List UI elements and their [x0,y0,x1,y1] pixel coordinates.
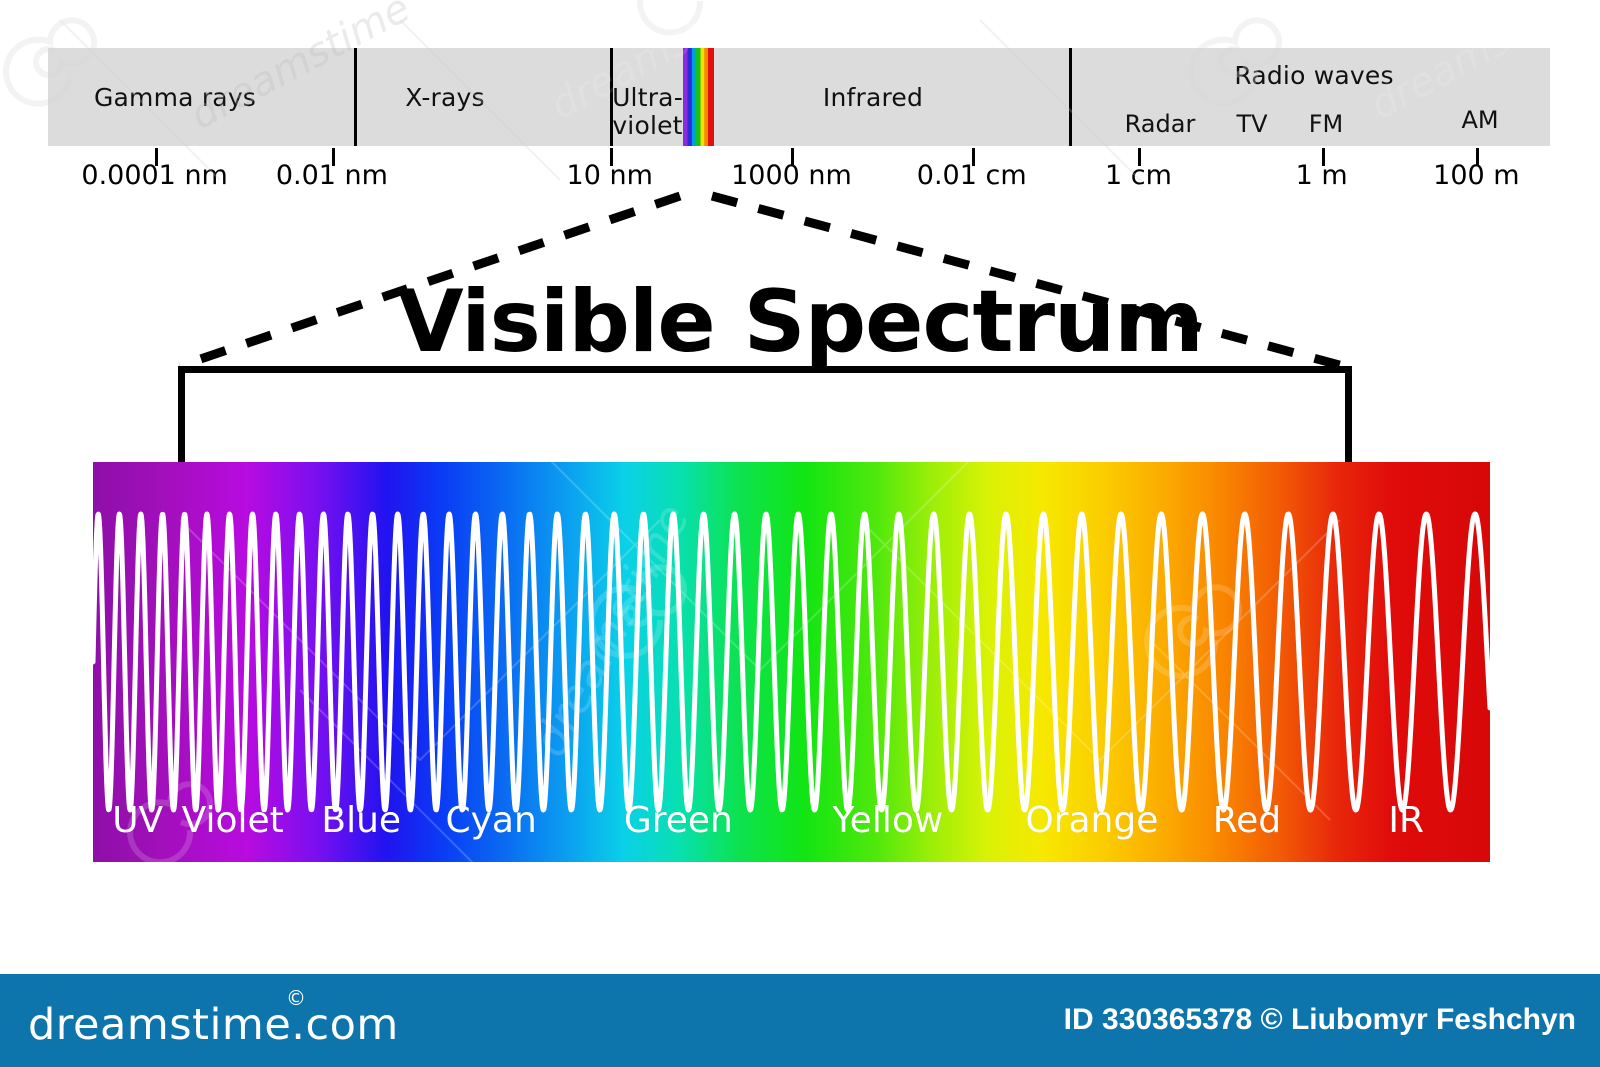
visible-band-label-violet: Violet [182,800,284,841]
visible-band-label-cyan: Cyan [445,800,536,841]
registered-icon: © [286,986,307,1010]
illustration-canvas: Gamma rays X-rays Ultra- violet Infrared… [0,0,1600,1067]
em-divider-3 [1069,48,1072,146]
bracket-left [178,366,185,466]
visible-band-label-blue: Blue [321,800,401,841]
em-region-x-rays: X-rays [360,84,530,112]
em-subregion-am: AM [1444,106,1516,134]
em-subregion-radar: Radar [1100,110,1220,138]
visible-band-label-green: Green [624,800,733,841]
image-credit: ID 330365378 © Liubomyr Feshchyn [1064,1003,1576,1037]
visible-band-label-ir: IR [1388,800,1424,841]
visible-band-label-yellow: Yellow [832,800,943,841]
visible-band-label-red: Red [1213,800,1281,841]
wave-path [93,514,1490,810]
em-region-infrared: Infrared [788,84,958,112]
dreamstime-logo[interactable]: dreamstime.com© [28,1000,399,1050]
em-region-ultraviolet: Ultra- violet [595,84,700,140]
visible-band-label-group: UVVioletBlueCyanGreenYellowOrangeRedIR [93,800,1490,852]
em-region-gamma-rays: Gamma rays [90,84,260,112]
em-region-radio-waves: Radio waves [1204,62,1424,90]
em-divider-0 [354,48,357,146]
em-tick-label-1: 0.01 nm [222,160,442,191]
page-title: Visible Spectrum [0,272,1600,372]
bracket-right [1345,366,1352,466]
visible-band-label-uv: UV [112,800,163,841]
visible-band-label-orange: Orange [1025,800,1158,841]
em-subregion-fm: FM [1290,110,1362,138]
em-subregion-tv: TV [1216,110,1288,138]
logo-text: dreamstime.com [28,1000,399,1050]
em-tick-label-7: 100 m [1366,160,1586,191]
